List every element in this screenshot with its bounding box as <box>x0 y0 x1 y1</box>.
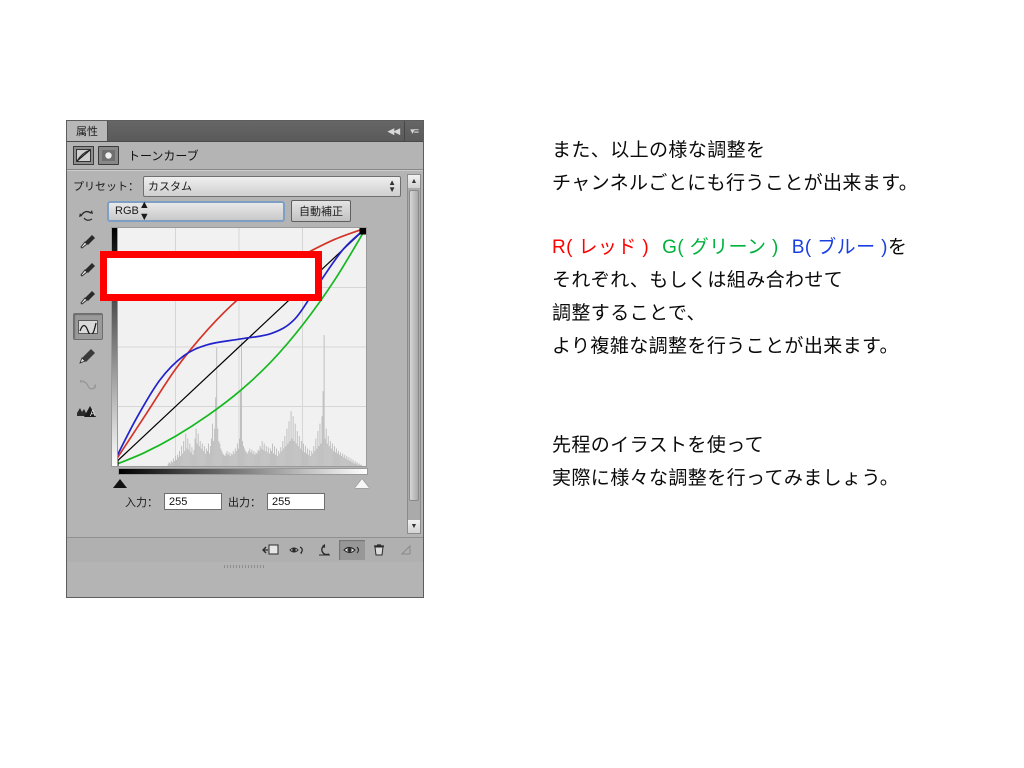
input-label: 入力： <box>125 494 158 510</box>
clipping-warning-icon[interactable]: A <box>74 399 102 424</box>
preset-dropdown[interactable]: カスタム ▲▼ <box>143 176 401 197</box>
curve-tool-rail: A <box>71 201 105 424</box>
grip-dots-icon <box>224 565 266 568</box>
panel-tab-strip: 属性 ◀◀ ▾≡ <box>67 121 423 142</box>
rgb-blue-label: B( ブルー ) <box>792 237 888 258</box>
paragraph-3-line-2: 実際に様々な調整を行ってみましょう。 <box>552 462 982 495</box>
scroll-up-arrow-icon[interactable]: ▲ <box>408 175 420 188</box>
tone-curve-graph[interactable] <box>111 227 371 488</box>
smooth-curve-icon[interactable] <box>74 371 102 396</box>
channel-dropdown[interactable]: RGB ▲▼ <box>107 201 285 222</box>
rgb-green-label: G( グリーン ) <box>662 237 779 258</box>
curve-adjustment-icon <box>73 146 94 165</box>
on-image-adjust-icon[interactable] <box>74 201 102 226</box>
auto-correct-label: 自動補正 <box>299 203 343 219</box>
trash-icon[interactable] <box>366 540 392 560</box>
chevron-updown-icon: ▲▼ <box>388 179 396 193</box>
clip-to-layer-icon[interactable] <box>258 540 284 560</box>
curve-plot-area[interactable] <box>111 227 367 467</box>
rgb-red-label: R( レッド ) <box>552 237 649 258</box>
tab-properties[interactable]: 属性 <box>67 121 108 141</box>
reset-icon[interactable] <box>312 540 338 560</box>
scrollbar-thumb[interactable] <box>409 190 419 501</box>
tab-properties-label: 属性 <box>76 123 98 139</box>
output-label: 出力： <box>228 494 261 510</box>
paragraph-3-line-1: 先程のイラストを使って <box>552 429 982 462</box>
input-value: 255 <box>169 496 187 508</box>
collapse-panel-icon[interactable]: ◀◀ <box>382 121 404 141</box>
pencil-tool-icon[interactable] <box>74 343 102 368</box>
paragraph-2-line-1: それぞれ、もしくは組み合わせて <box>552 264 982 297</box>
scroll-down-arrow-icon[interactable]: ▼ <box>408 520 420 533</box>
panel-footer <box>67 537 423 562</box>
curve-svg <box>112 228 366 466</box>
explanation-text-column: また、以上の様な調整を チャンネルごとにも行うことが出来ます。 R( レッド )… <box>552 134 982 495</box>
input-gradient-ramp <box>118 468 368 475</box>
paragraph-2-line-3: より複雑な調整を行うことが出来ます。 <box>552 330 982 363</box>
output-value: 255 <box>272 496 290 508</box>
panel-menu-icon[interactable]: ▾≡ <box>404 121 423 141</box>
preset-row: プリセット： カスタム ▲▼ <box>73 176 401 196</box>
rgb-suffix-label: を <box>888 237 907 258</box>
eye-visibility-icon[interactable] <box>339 540 365 560</box>
layer-mask-icon <box>98 146 119 165</box>
toggle-layer-visibility-icon[interactable] <box>285 540 311 560</box>
panel-title-row: トーンカーブ <box>67 142 423 170</box>
preset-label: プリセット： <box>73 178 139 194</box>
input-output-row: 入力： 255 出力： 255 <box>125 493 325 510</box>
paragraph-1-line-1: また、以上の様な調整を <box>552 134 982 167</box>
svg-text:A: A <box>90 409 96 418</box>
output-field[interactable]: 255 <box>267 493 325 510</box>
white-point-slider[interactable] <box>355 479 369 488</box>
paragraph-1: また、以上の様な調整を チャンネルごとにも行うことが出来ます。 <box>552 134 982 200</box>
panel-body: プリセット： カスタム ▲▼ RGB ▲▼ 自動補正 <box>67 170 423 537</box>
paragraph-1-line-2: チャンネルごとにも行うことが出来ます。 <box>552 167 982 200</box>
paragraph-2-line-2: 調整することで、 <box>552 297 982 330</box>
paragraph-2: それぞれ、もしくは組み合わせて 調整することで、 より複雑な調整を行うことが出来… <box>552 264 982 363</box>
output-gradient-ramp <box>111 227 118 467</box>
panel-scrollbar[interactable]: ▲ ▼ <box>407 174 421 534</box>
channel-row: RGB ▲▼ 自動補正 <box>107 199 401 223</box>
black-point-slider[interactable] <box>113 479 127 488</box>
paragraph-3: 先程のイラストを使って 実際に様々な調整を行ってみましょう。 <box>552 429 982 495</box>
chevron-updown-icon: ▲▼ <box>139 199 150 223</box>
preset-value: カスタム <box>148 178 192 194</box>
eyedropper-white-point-icon[interactable] <box>74 285 102 310</box>
channel-value: RGB <box>115 205 139 217</box>
eyedropper-black-point-icon[interactable] <box>74 229 102 254</box>
resize-grip-icon[interactable] <box>393 540 419 560</box>
input-field[interactable]: 255 <box>164 493 222 510</box>
rgb-channel-line: R( レッド )G( グリーン )B( ブルー )を <box>552 231 982 264</box>
curve-tool-icon[interactable] <box>73 313 103 340</box>
eyedropper-gray-point-icon[interactable] <box>74 257 102 282</box>
tone-curve-properties-panel: 属性 ◀◀ ▾≡ トーンカーブ プリセット： <box>66 120 424 598</box>
page-title: トーンカーブ <box>128 147 199 164</box>
auto-correct-button[interactable]: 自動補正 <box>291 200 351 222</box>
panel-resize-grip[interactable] <box>67 562 423 571</box>
tab-strip-spacer <box>108 121 382 141</box>
